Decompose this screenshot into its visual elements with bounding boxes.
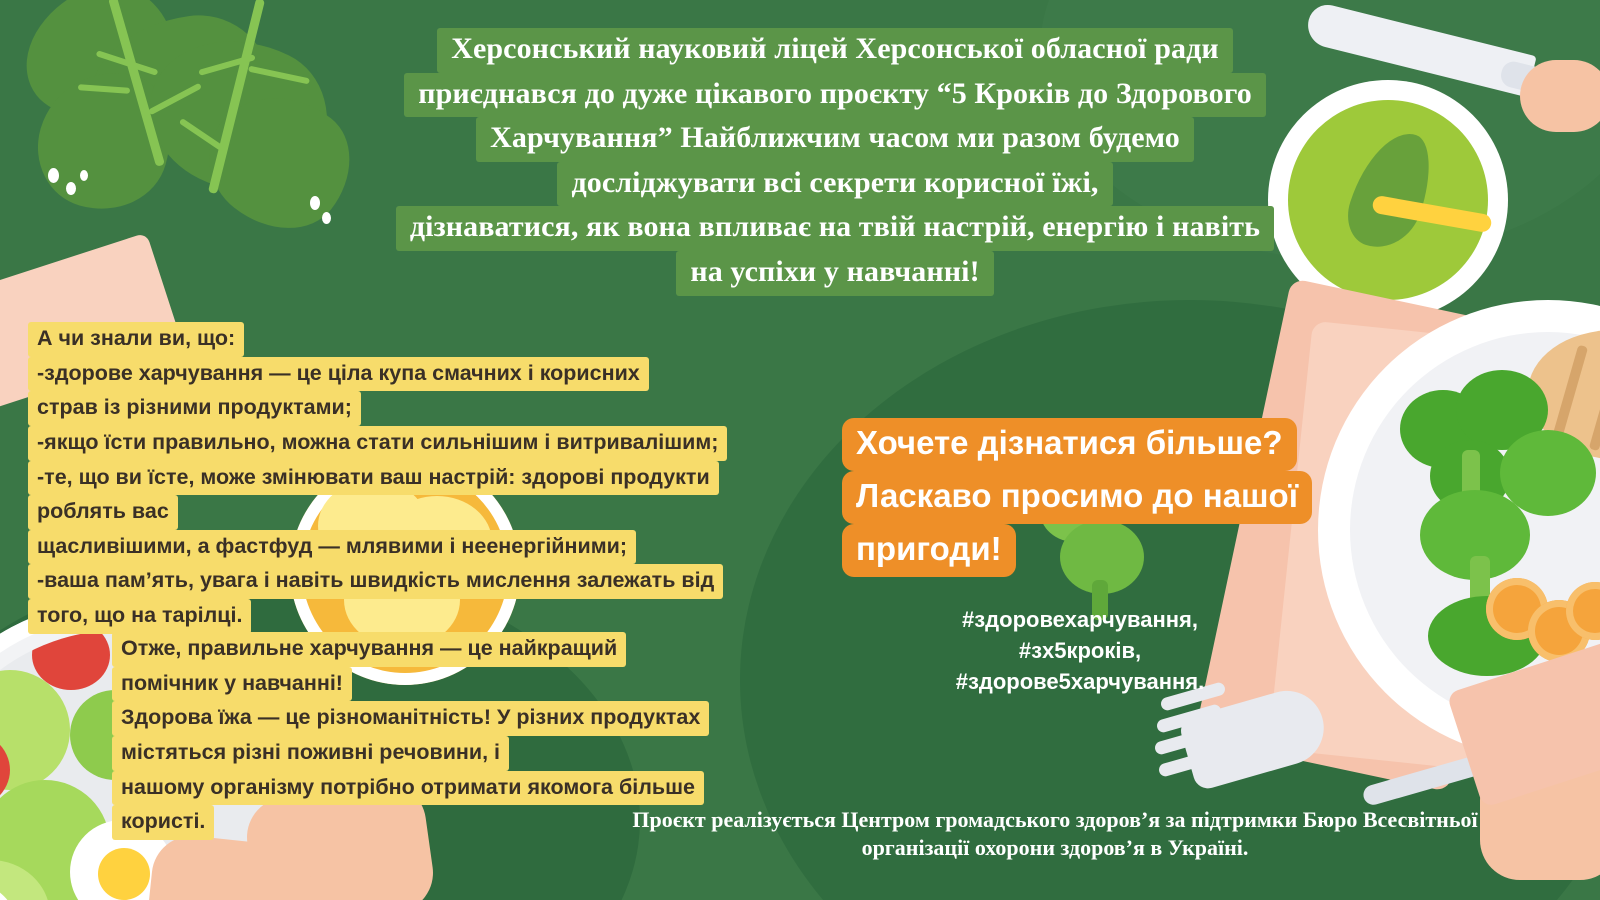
cta-line: Хочете дізнатися більше?	[842, 418, 1442, 471]
fact-line: -ваша пам’ять, увага і навіть швидкість …	[28, 564, 828, 599]
fact-line: -те, що ви їсте, може змінювати ваш наст…	[28, 461, 828, 496]
fact-line: щасливішими, а фастфуд — млявими і неене…	[28, 530, 828, 565]
conclusion-line: містяться різні поживні речовини, і	[112, 736, 812, 771]
header-line: досліджувати всі секрети корисної їжі,	[340, 162, 1330, 207]
hashtag-list: #здоровехарчування, #зх5кроків, #здорове…	[800, 604, 1360, 698]
header-line: Харчування” Найближчим часом ми разом бу…	[340, 117, 1330, 162]
conclusion-line: Здорова їжа — це різноманітність! У різн…	[112, 701, 812, 736]
header-line: приєднався до дуже цікавого проєкту “5 К…	[340, 73, 1330, 118]
conclusion-line: помічник у навчанні!	[112, 667, 812, 702]
header-line: на успіхи у навчанні!	[340, 251, 1330, 296]
fact-line: роблять вас	[28, 495, 828, 530]
grilled-chicken-icon	[1528, 330, 1600, 460]
header-line: Херсонський науковий ліцей Херсонської о…	[340, 28, 1330, 73]
poster-canvas: Херсонський науковий ліцей Херсонської о…	[0, 0, 1600, 900]
hand-bottom-left	[145, 832, 316, 900]
fact-line: -здорове харчування — це ціла купа смачн…	[28, 357, 828, 392]
fact-line: -якщо їсти правильно, можна стати сильні…	[28, 426, 828, 461]
did-you-know-block: А чи знали ви, що: -здорове харчування —…	[28, 322, 828, 634]
spoon-icon	[1371, 195, 1492, 234]
conclusion-block: Отже, правильне харчування — це найкращи…	[112, 632, 812, 840]
cta-line: Ласкаво просимо до нашої	[842, 471, 1442, 524]
cta-line: пригоди!	[842, 524, 1442, 577]
conclusion-line: Отже, правильне харчування — це найкращи…	[112, 632, 812, 667]
fact-line: того, що на тарілці.	[28, 599, 828, 634]
call-to-action-block[interactable]: Хочете дізнатися більше? Ласкаво просимо…	[842, 418, 1442, 577]
hashtag-item[interactable]: #здоровехарчування,	[800, 604, 1360, 635]
fact-line: страв із різними продуктами;	[28, 391, 828, 426]
header-announcement: Херсонський науковий ліцей Херсонської о…	[340, 28, 1330, 296]
conclusion-line: користі.	[112, 805, 812, 840]
hashtag-item[interactable]: #здорове5харчування.	[800, 666, 1360, 697]
hashtag-item[interactable]: #зх5кроків,	[800, 635, 1360, 666]
header-line: дізнаватися, як вона впливає на твій нас…	[340, 206, 1330, 251]
fact-line: А чи знали ви, що:	[28, 322, 828, 357]
conclusion-line: нашому організму потрібно отримати якомо…	[112, 771, 812, 806]
